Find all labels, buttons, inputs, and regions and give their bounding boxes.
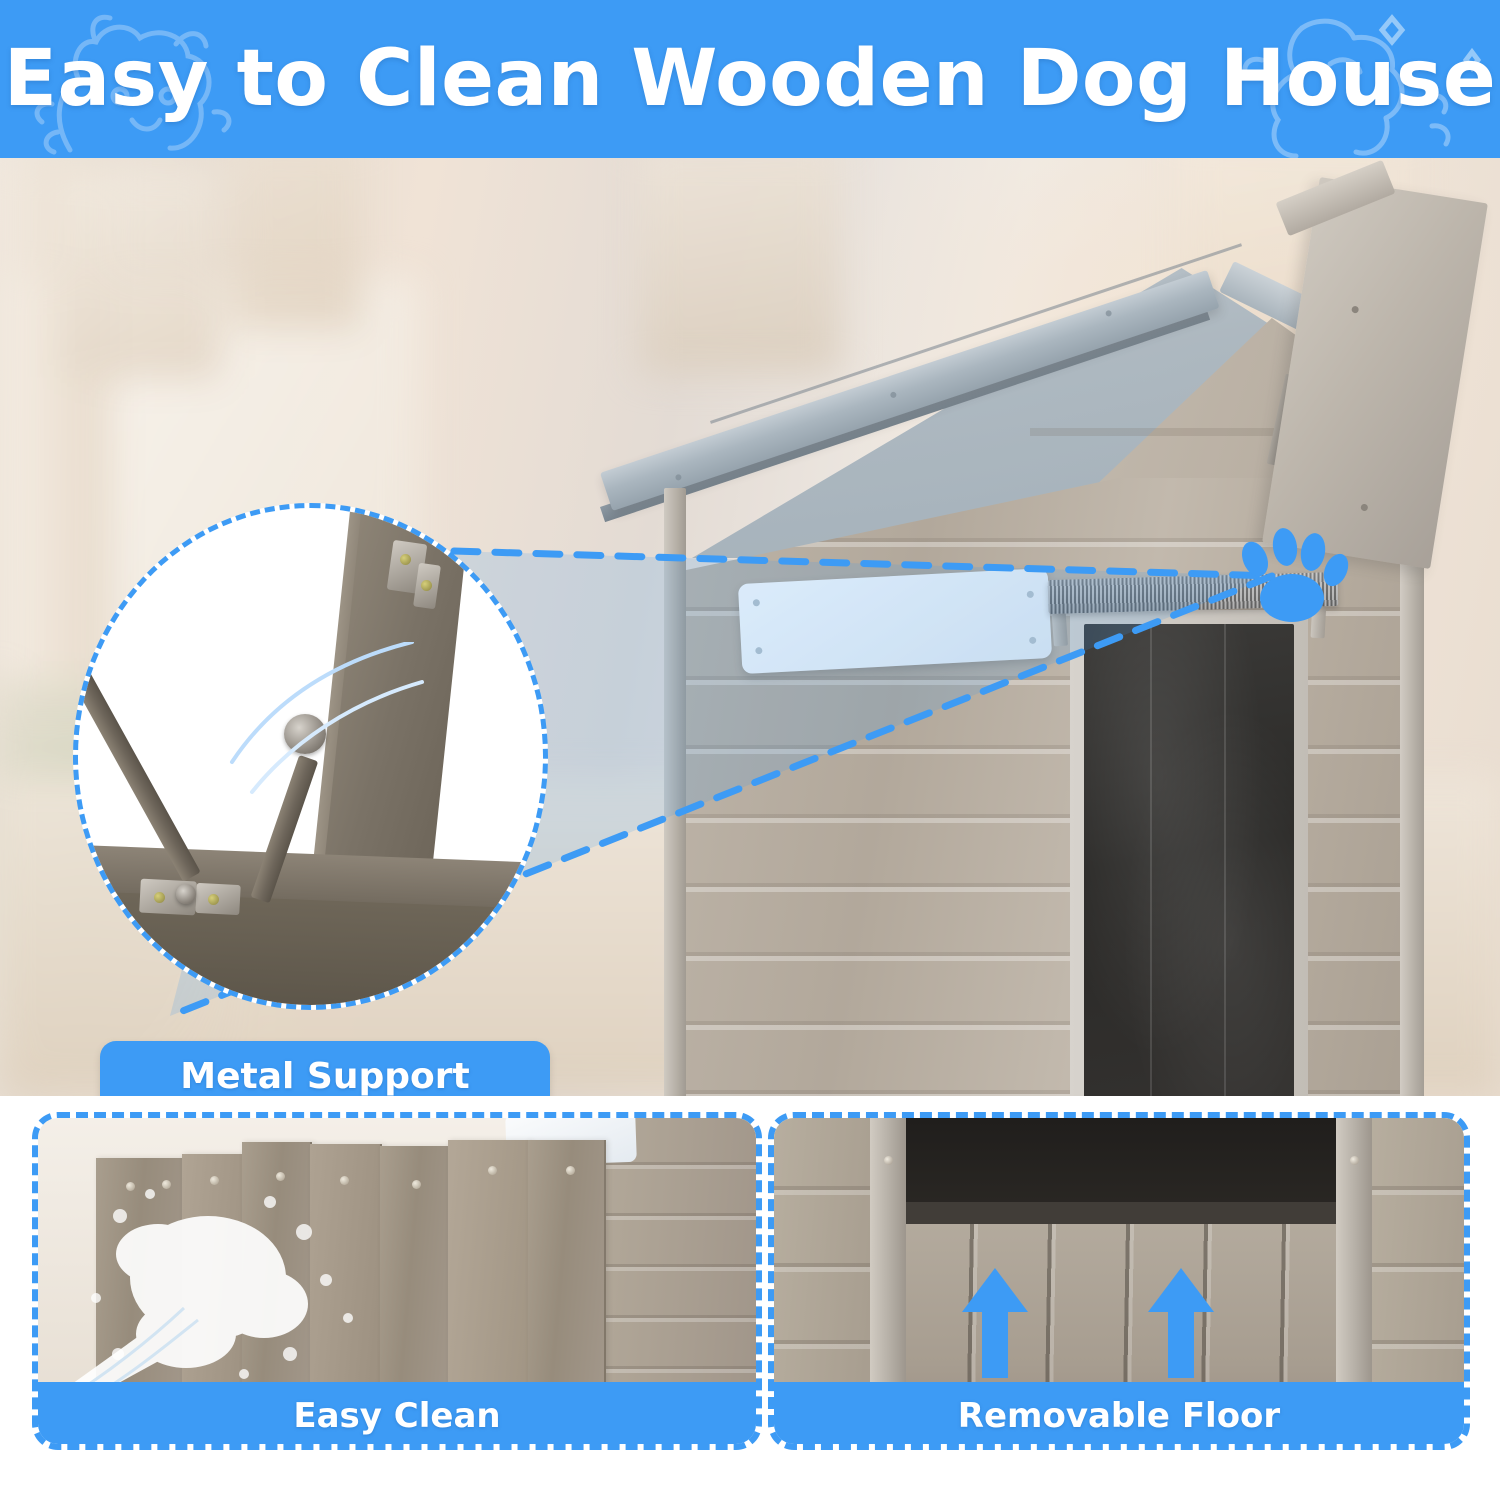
support-pivot-joint — [284, 714, 326, 754]
water-splash-icon — [58, 1158, 418, 1382]
header-banner: Easy to Clean Wooden Dog House — [0, 0, 1500, 158]
metal-support-label: Metal Support — [100, 1041, 550, 1096]
page-title: Easy to Clean Wooden Dog House — [0, 0, 1500, 158]
support-leg-left — [664, 488, 686, 1096]
panel-easy-clean: Easy Clean — [32, 1112, 762, 1450]
removable-floor-label: Removable Floor — [768, 1382, 1470, 1450]
hero-product-photo: Metal Support — [0, 158, 1500, 1096]
metal-support-inset — [73, 503, 548, 1010]
metal-support-arm — [73, 605, 201, 881]
name-plate — [738, 568, 1052, 674]
metal-support-photo — [73, 503, 548, 1010]
door-flap — [1084, 624, 1294, 1096]
arrow-up-icon — [1146, 1264, 1216, 1382]
dog-house-product — [600, 178, 1460, 1078]
panel-removable-floor: Removable Floor — [768, 1112, 1470, 1450]
arrow-up-icon — [960, 1264, 1030, 1382]
product-infographic: Easy to Clean Wooden Dog House — [0, 0, 1500, 1500]
easy-clean-label: Easy Clean — [32, 1382, 762, 1450]
roof-lid-open — [1262, 177, 1488, 569]
removable-floor-photo — [774, 1118, 1464, 1382]
easy-clean-photo — [38, 1118, 756, 1382]
